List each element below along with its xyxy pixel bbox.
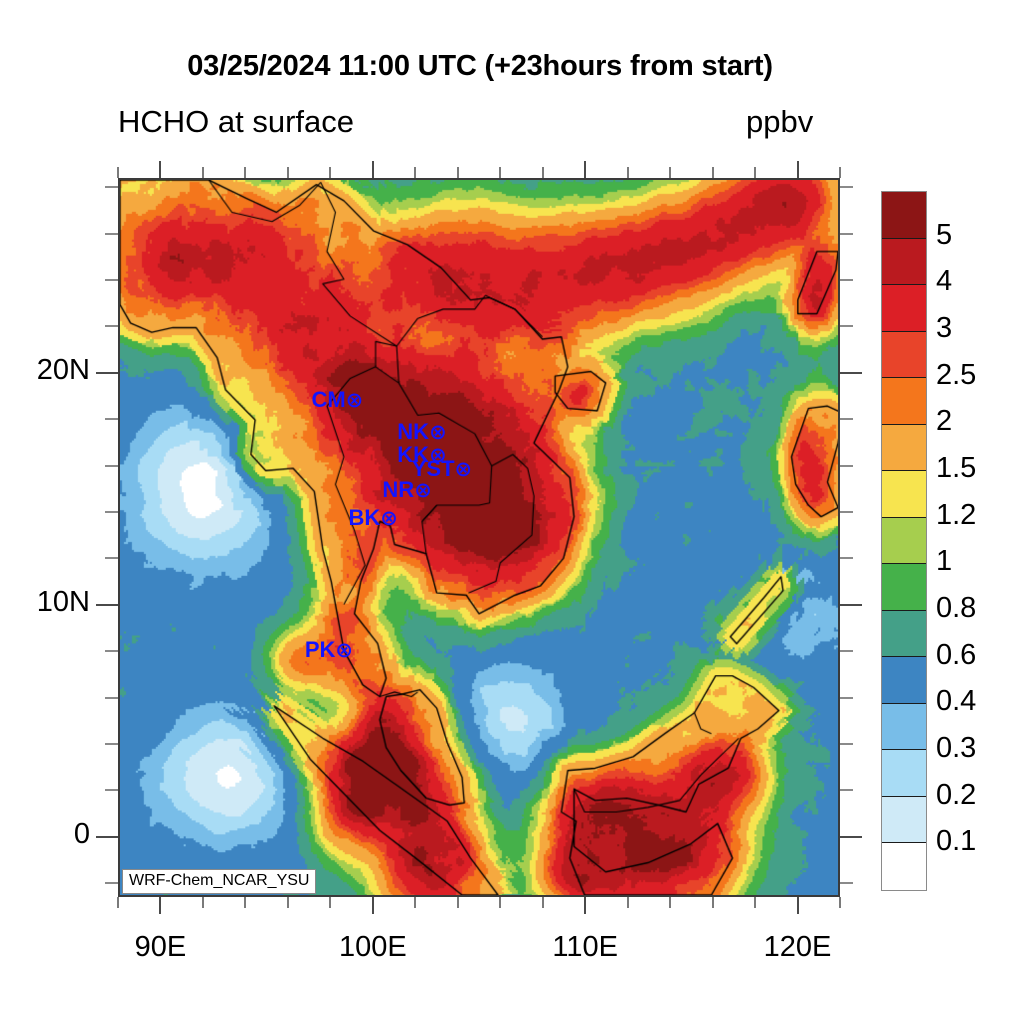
- ytick-10: [96, 604, 118, 606]
- colorbar-tick-5: 5: [936, 219, 952, 252]
- colorbar-tick-1.5: 1.5: [936, 452, 976, 485]
- colorbar-tick-0.6: 0.6: [936, 639, 976, 672]
- colorbar-tick-2: 2: [936, 405, 952, 438]
- colorbar: [881, 191, 927, 891]
- ytick-right-10: [840, 604, 862, 606]
- ytick-right-14: [840, 511, 853, 513]
- units-label: ppbv: [746, 104, 813, 140]
- xtick-top-90: [159, 161, 161, 178]
- colorbar-band-1: [882, 239, 926, 286]
- ytick-right-26: [840, 233, 853, 235]
- station-marker-nr[interactable]: NR⊗: [382, 479, 431, 501]
- xtick-top-110: [584, 161, 586, 178]
- xtick-92: [202, 897, 204, 908]
- xtick-96: [287, 897, 289, 908]
- ytick-right-8: [840, 650, 853, 652]
- colorbar-tick-0.2: 0.2: [936, 779, 976, 812]
- xtick-116: [712, 897, 714, 908]
- xtick-top-94: [244, 167, 246, 178]
- ytick-right-18: [840, 418, 853, 420]
- ytick-28: [105, 186, 118, 188]
- xtick-94: [244, 897, 246, 908]
- ytick-0: [96, 836, 118, 838]
- colorbar-band-11: [882, 704, 926, 751]
- ytick-right-16: [840, 465, 853, 467]
- xaxis-label-100E: 100E: [303, 931, 443, 964]
- plot-subtitle: HCHO at surface: [118, 104, 354, 140]
- station-cross-circle-icon: ⊗: [335, 639, 353, 662]
- station-marker-pk[interactable]: PK⊗: [305, 639, 353, 661]
- ytick-right-22: [840, 325, 853, 327]
- colorbar-band-5: [882, 425, 926, 472]
- xtick-top-88: [117, 167, 119, 178]
- station-cross-circle-icon: ⊗: [346, 389, 364, 412]
- station-label-cm: CM: [311, 387, 345, 412]
- ytick-right--2: [840, 882, 853, 884]
- hcho-concentration-map: [120, 180, 838, 895]
- ytick-right-2: [840, 789, 853, 791]
- ytick-right-6: [840, 697, 853, 699]
- ytick-right-0: [840, 836, 862, 838]
- yaxis-label-10N: 10N: [0, 586, 90, 619]
- xtick-top-120: [797, 161, 799, 178]
- ytick-12: [105, 557, 118, 559]
- xtick-top-122: [839, 167, 841, 178]
- colorbar-band-9: [882, 611, 926, 658]
- ytick-14: [105, 511, 118, 513]
- ytick-20: [96, 372, 118, 374]
- model-watermark: WRF-Chem_NCAR_YSU: [122, 869, 316, 894]
- station-label-nk: NK: [397, 419, 429, 444]
- colorbar-band-0: [882, 192, 926, 239]
- colorbar-tick-3: 3: [936, 312, 952, 345]
- xtick-top-104: [457, 167, 459, 178]
- xtick-122: [839, 897, 841, 908]
- xtick-top-114: [669, 167, 671, 178]
- station-label-nr: NR: [382, 477, 414, 502]
- xtick-104: [457, 897, 459, 908]
- xtick-106: [499, 897, 501, 908]
- ytick-16: [105, 465, 118, 467]
- xtick-118: [754, 897, 756, 908]
- xtick-90: [159, 897, 161, 914]
- colorbar-band-8: [882, 564, 926, 611]
- station-cross-circle-icon: ⊗: [380, 507, 398, 530]
- xtick-top-116: [712, 167, 714, 178]
- colorbar-band-6: [882, 471, 926, 518]
- colorbar-band-7: [882, 518, 926, 565]
- station-marker-nk[interactable]: NK⊗: [397, 421, 446, 443]
- colorbar-tick-0.1: 0.1: [936, 825, 976, 858]
- ytick-right-24: [840, 279, 853, 281]
- colorbar-band-13: [882, 797, 926, 844]
- colorbar-tick-1: 1: [936, 545, 952, 578]
- xtick-top-100: [372, 161, 374, 178]
- colorbar-band-10: [882, 657, 926, 704]
- station-cross-circle-icon: ⊗: [429, 421, 447, 444]
- xtick-top-102: [414, 167, 416, 178]
- ytick-8: [105, 650, 118, 652]
- station-cross-circle-icon: ⊗: [455, 458, 473, 481]
- xtick-top-106: [499, 167, 501, 178]
- station-label-pk: PK: [305, 637, 336, 662]
- xtick-98: [329, 897, 331, 908]
- ytick-right-12: [840, 557, 853, 559]
- station-cross-circle-icon: ⊗: [414, 479, 432, 502]
- colorbar-tick-1.2: 1.2: [936, 499, 976, 532]
- xtick-top-108: [542, 167, 544, 178]
- xtick-110: [584, 897, 586, 914]
- xaxis-label-110E: 110E: [515, 931, 655, 964]
- xaxis-label-90E: 90E: [90, 931, 230, 964]
- ytick-right-4: [840, 743, 853, 745]
- xtick-top-98: [329, 167, 331, 178]
- ytick-26: [105, 233, 118, 235]
- xtick-114: [669, 897, 671, 908]
- colorbar-tick-0.3: 0.3: [936, 732, 976, 765]
- ytick-18: [105, 418, 118, 420]
- station-marker-cm[interactable]: CM⊗: [311, 389, 363, 411]
- station-marker-yst[interactable]: YST⊗: [412, 458, 472, 480]
- colorbar-tick-0.4: 0.4: [936, 685, 976, 718]
- colorbar-band-4: [882, 378, 926, 425]
- xtick-top-96: [287, 167, 289, 178]
- ytick-2: [105, 789, 118, 791]
- xtick-100: [372, 897, 374, 914]
- xtick-88: [117, 897, 119, 908]
- xtick-120: [797, 897, 799, 914]
- ytick-24: [105, 279, 118, 281]
- xtick-top-92: [202, 167, 204, 178]
- ytick-6: [105, 697, 118, 699]
- yaxis-label-20N: 20N: [0, 354, 90, 387]
- colorbar-band-12: [882, 750, 926, 797]
- colorbar-band-3: [882, 332, 926, 379]
- ytick--2: [105, 882, 118, 884]
- xtick-top-118: [754, 167, 756, 178]
- xaxis-label-120E: 120E: [728, 931, 868, 964]
- colorbar-tick-2.5: 2.5: [936, 359, 976, 392]
- station-marker-bk[interactable]: BK⊗: [348, 507, 397, 529]
- ytick-right-28: [840, 186, 853, 188]
- colorbar-band-14: [882, 843, 926, 890]
- xtick-108: [542, 897, 544, 908]
- station-label-bk: BK: [348, 505, 380, 530]
- ytick-4: [105, 743, 118, 745]
- station-label-yst: YST: [412, 456, 455, 481]
- yaxis-label-0: 0: [0, 818, 90, 851]
- page-title: 03/25/2024 11:00 UTC (+23hours from star…: [0, 50, 960, 83]
- xtick-top-112: [627, 167, 629, 178]
- map-plot-area: [118, 178, 840, 897]
- ytick-22: [105, 325, 118, 327]
- colorbar-tick-4: 4: [936, 265, 952, 298]
- colorbar-tick-0.8: 0.8: [936, 592, 976, 625]
- ytick-right-20: [840, 372, 862, 374]
- xtick-102: [414, 897, 416, 908]
- xtick-112: [627, 897, 629, 908]
- colorbar-band-2: [882, 285, 926, 332]
